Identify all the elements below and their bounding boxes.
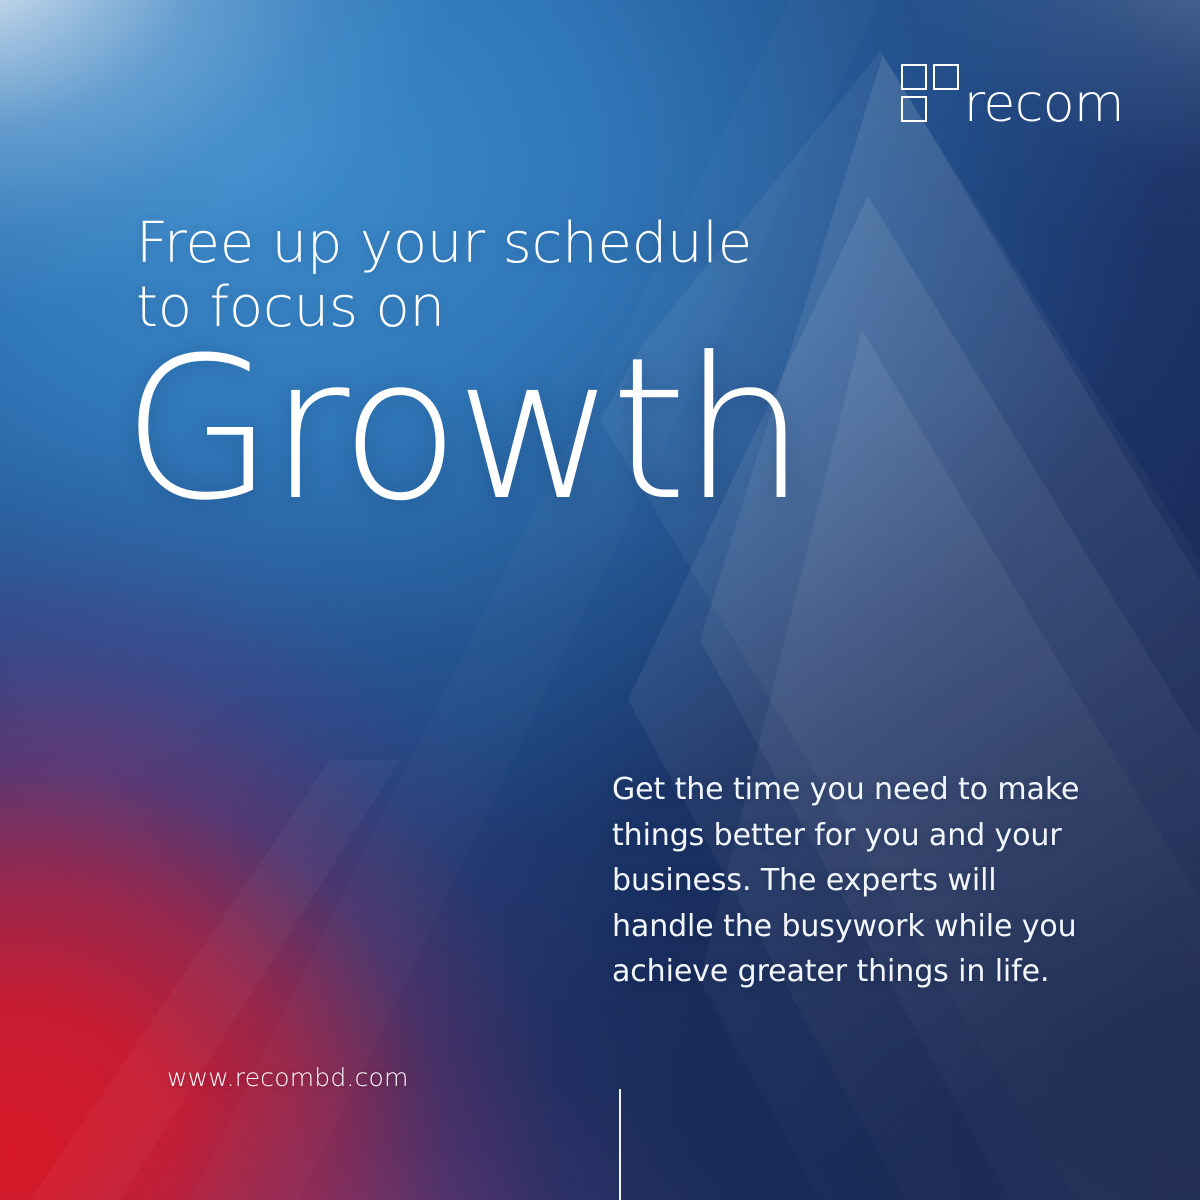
chevron-shape-svg: [0, 0, 1200, 1200]
body-line-5: achieve greater things in life.: [612, 949, 1082, 995]
body-paragraph: Get the time you need to make things bet…: [612, 767, 1082, 995]
brand-logo[interactable]: recom: [901, 64, 1124, 124]
decorative-chevron-shapes: [0, 0, 1200, 1200]
three-squares-grid-icon: [901, 64, 961, 124]
logo-square-top-right: [933, 64, 959, 90]
body-line-3: business. The experts will: [612, 858, 1082, 904]
logo-square-bottom-left: [901, 96, 927, 122]
body-line-2: things better for you and your: [612, 813, 1082, 859]
headline-kicker-line-1: Free up your schedule: [136, 212, 801, 276]
headline-emphasis-word: Growth: [122, 336, 801, 524]
brand-wordmark: recom: [964, 82, 1124, 127]
body-line-4: handle the busywork while you: [612, 904, 1082, 950]
vertical-divider-rule: [619, 1089, 621, 1200]
headline-block: Free up your schedule to focus on Growth: [136, 212, 801, 524]
promo-poster: recom Free up your schedule to focus on …: [0, 0, 1200, 1200]
logo-square-top-left: [901, 64, 927, 90]
website-url[interactable]: www.recombd.com: [167, 1063, 409, 1092]
body-line-1: Get the time you need to make: [612, 767, 1082, 813]
